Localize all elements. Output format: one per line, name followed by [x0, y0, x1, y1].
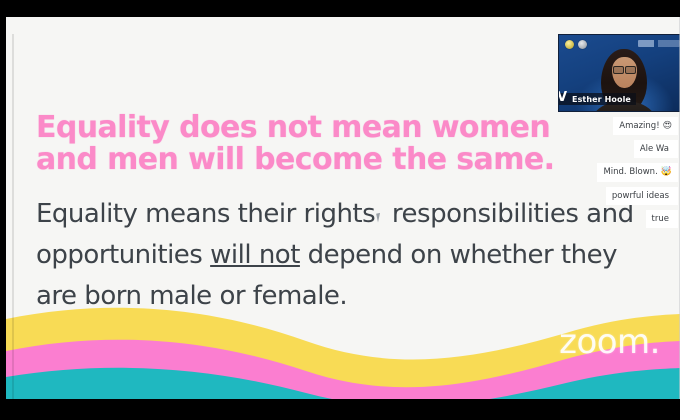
chat-message[interactable]: Mind. Blown. 🤯 [597, 163, 678, 181]
stage-left-seam [12, 34, 14, 399]
zoom-watermark: zoom. [559, 325, 660, 359]
mouse-cursor-icon [376, 213, 383, 224]
participant-video-tile[interactable]: Esther Hoole [558, 34, 680, 112]
window-left-bar [0, 0, 6, 420]
body-text-emphasis: will not [210, 240, 300, 270]
participant-name-label: Esther Hoole [572, 95, 631, 104]
chat-message-list: Amazing! 😍 Ale Wa Mind. Blown. 🤯 powrful… [582, 117, 678, 228]
chat-message[interactable]: true [646, 210, 678, 228]
zoom-meeting-screen: Equality does not mean women and men wil… [0, 0, 680, 420]
emoji-icon: 🤯 [661, 168, 672, 177]
chat-message-text: Ale Wa [640, 144, 669, 154]
window-bottom-bar [0, 399, 680, 420]
organization-logos [565, 40, 587, 49]
gold-seal-logo-icon [565, 40, 574, 49]
participant-name-bar: Esther Hoole [559, 93, 636, 105]
emoji-icon: 😍 [663, 122, 672, 131]
slide-headline: Equality does not mean women and men wil… [36, 112, 576, 177]
chat-message[interactable]: powrful ideas [606, 187, 678, 205]
chat-message-text: powrful ideas [612, 191, 669, 201]
chat-message-text: Amazing! [619, 121, 659, 131]
shared-screen-slide: Equality does not mean women and men wil… [6, 17, 680, 399]
chat-message[interactable]: Amazing! 😍 [613, 117, 678, 135]
slide-text-block: Equality does not mean women and men wil… [36, 112, 636, 317]
chat-message-text: Mind. Blown. [603, 167, 657, 177]
silver-seal-logo-icon [578, 40, 587, 49]
glasses-icon [613, 66, 636, 72]
video-corner-branding [638, 40, 680, 47]
microphone-icon [561, 94, 570, 104]
body-text-segment-1: Equality means their rights [36, 199, 375, 229]
chat-message[interactable]: Ale Wa [634, 140, 678, 158]
window-top-bar [0, 0, 680, 17]
chat-message-text: true [652, 214, 669, 224]
